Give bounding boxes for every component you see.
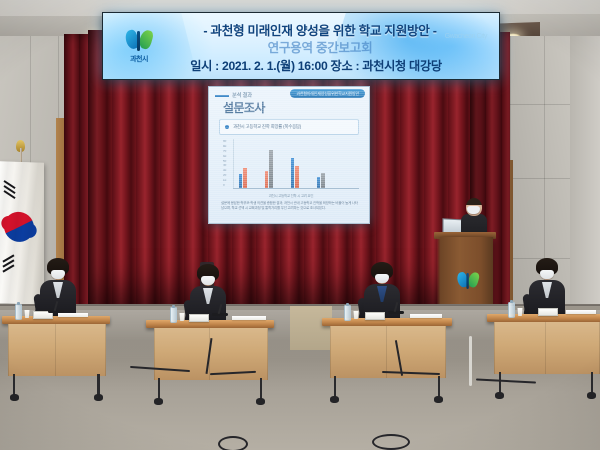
- butterfly-icon: [126, 29, 152, 53]
- led-event-banner: 과천시 - 과천형 미래인재 양성을 위한 학교 지원방안 - 연구용역 중간보…: [102, 12, 500, 80]
- document-stack: [58, 313, 88, 317]
- name-card: [538, 308, 558, 316]
- chart-y-tick: 30: [223, 168, 226, 172]
- chart-bar: [269, 150, 272, 188]
- water-bottle: [170, 307, 177, 323]
- chart-y-tick: 50: [223, 159, 226, 163]
- chart-bar: [295, 166, 298, 188]
- document-stack: [566, 310, 596, 314]
- chart-y-tick: 90: [223, 139, 226, 143]
- banner-title-line2: 연구용역 중간보고회: [155, 37, 485, 56]
- name-card: [365, 312, 385, 320]
- chart-x-axis: [233, 188, 359, 189]
- desk-microphone: [48, 310, 64, 313]
- conference-hall-photo: 과천시 - 과천형 미래인재 양성을 위한 학교 지원방안 - 연구용역 중간보…: [0, 0, 600, 450]
- floor-cable-white: [469, 336, 472, 386]
- slide-topic-pill: 과천형미래인재양성을위한학교지원방안: [290, 89, 365, 98]
- chart-bar: [265, 171, 268, 188]
- name-card: [189, 314, 209, 322]
- chart-y-tick: 70: [223, 149, 226, 153]
- floor-cable-loop: [218, 436, 248, 450]
- slide-bar-chart: 9080706050403020100 과천시 고등학교 진학 시 고려 요인: [221, 139, 361, 197]
- chart-y-tick: 0: [223, 183, 225, 187]
- banner-datetime-venue: 일시 : 2021. 2. 1.(월) 16:00 장소 : 과천시청 대강당: [143, 56, 489, 74]
- slide-question-box: 과천시 고등학교 진학 희망률 (복수응답): [219, 119, 359, 135]
- panel-table-2: [146, 320, 274, 410]
- chart-y-tick: 20: [223, 173, 226, 177]
- chart-bar-group: [317, 173, 325, 188]
- water-bottle: [344, 305, 351, 321]
- desk-microphone: [388, 311, 404, 314]
- chart-x-label: 과천시 고등학교 진학 시 고려 요인: [221, 193, 361, 198]
- water-bottle: [508, 302, 515, 318]
- south-korea-flag-icon: [0, 161, 44, 305]
- face-mask-icon: [467, 206, 480, 214]
- panel-table-1: [2, 316, 110, 406]
- projection-screen: 분석 결과 과천형미래인재양성을위한학교지원방안 설문조사 과천시 고등학교 진…: [208, 86, 370, 224]
- chart-bar-group: [265, 150, 273, 188]
- chart-y-tick: 40: [223, 163, 226, 167]
- chart-y-tick: 80: [223, 144, 226, 148]
- slide-kicker: 분석 결과: [232, 91, 252, 99]
- slide-question-text: 과천시 고등학교 진학 희망률 (복수응답): [233, 124, 301, 130]
- chart-bar: [291, 158, 294, 188]
- document-stack: [232, 316, 266, 320]
- chart-bar: [243, 168, 246, 188]
- wall-far-right: [570, 36, 600, 316]
- chart-y-tick: 60: [223, 154, 226, 158]
- chart-bar: [239, 174, 242, 188]
- banner-watermark: Gwacheon City: [445, 33, 487, 40]
- document-stack: [410, 314, 442, 318]
- floor-cable-loop: [372, 434, 410, 450]
- chart-bar-group: [239, 168, 247, 188]
- chart-bar-group: [291, 158, 299, 188]
- bullet-icon: [225, 125, 229, 129]
- chart-bar: [321, 173, 324, 188]
- wooden-podium: [437, 237, 493, 309]
- panel-table-3: [322, 318, 452, 408]
- water-bottle: [15, 304, 22, 320]
- desk-microphone: [212, 313, 228, 316]
- slide-title: 설문조사: [223, 99, 265, 116]
- slide-accent-bar: [215, 95, 229, 97]
- chart-y-axis: [233, 139, 234, 189]
- podium-butterfly-logo-icon: [455, 269, 475, 289]
- chart-y-tick: 10: [223, 178, 226, 182]
- panel-table-4: [487, 314, 600, 404]
- chart-bar: [317, 177, 320, 188]
- slide-footnote: 설문에 응답한 학부모·학생 의견을 종합한 결과, 과천시 관내 고등학교 진…: [221, 201, 359, 212]
